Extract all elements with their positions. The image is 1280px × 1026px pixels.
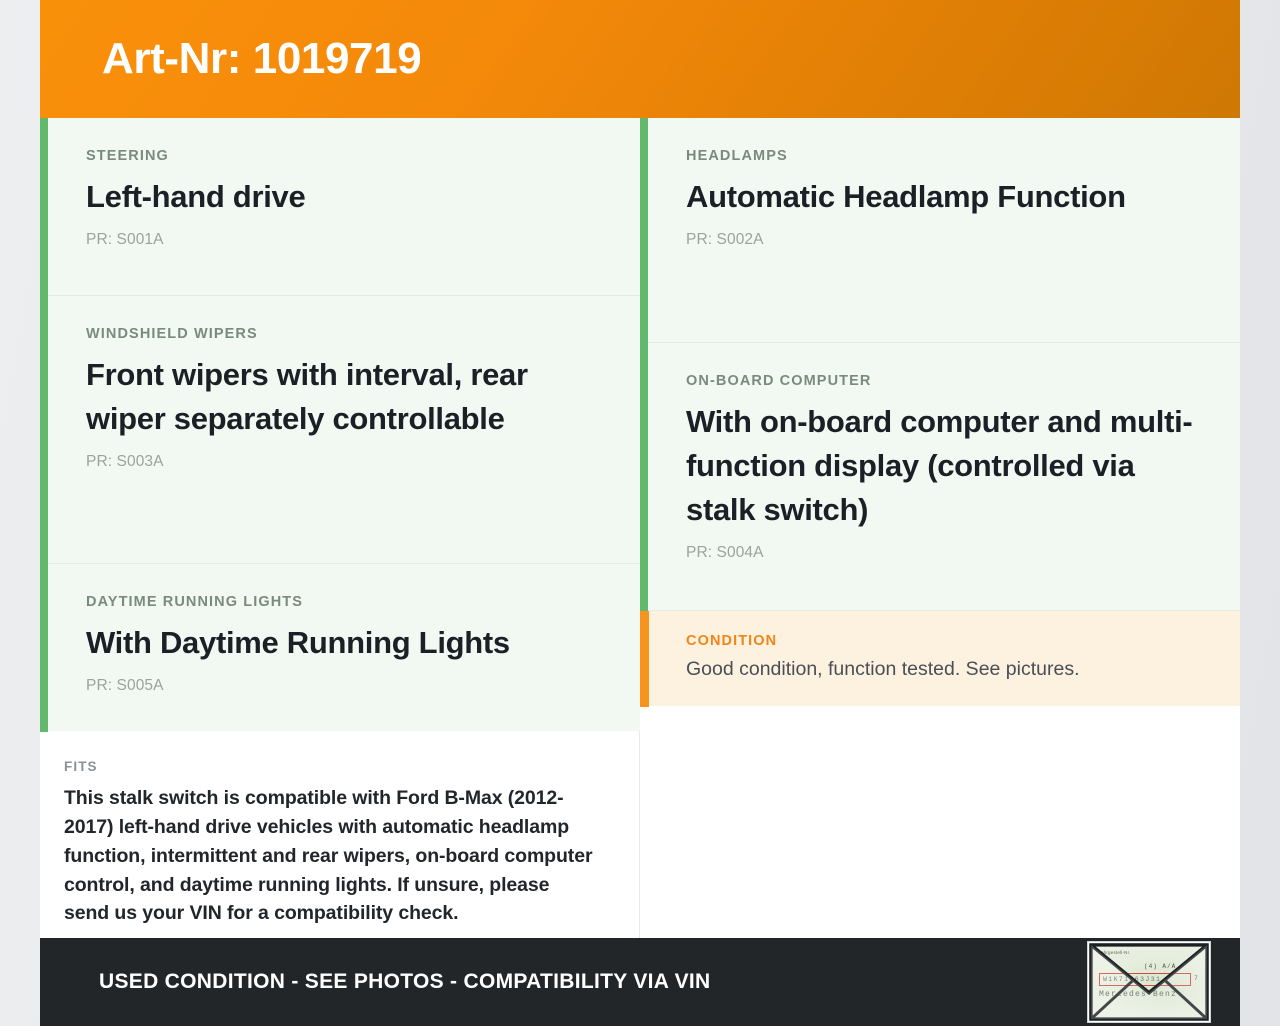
spec-title: Left-hand drive bbox=[86, 175, 596, 219]
header-banner: Art-Nr: 1019719 bbox=[40, 0, 1240, 118]
spec-card-daytime-running-lights: DAYTIME RUNNING LIGHTS With Daytime Runn… bbox=[40, 564, 640, 731]
spec-title: With Daytime Running Lights bbox=[86, 621, 596, 665]
fits-description: This stalk switch is compatible with For… bbox=[64, 784, 595, 928]
spec-label: ON-BOARD COMPUTER bbox=[686, 373, 1196, 389]
fits-section: FITS This stalk switch is compatible wit… bbox=[40, 731, 640, 968]
spec-grid: STEERING Left-hand drive PR: S001A WINDS… bbox=[40, 118, 1240, 731]
spec-column-left: STEERING Left-hand drive PR: S001A WINDS… bbox=[40, 118, 640, 731]
spec-pr-code: PR: S005A bbox=[86, 677, 596, 695]
footer-bar: USED CONDITION - SEE PHOTOS - COMPATIBIL… bbox=[40, 938, 1240, 1026]
spec-pr-code: PR: S003A bbox=[86, 453, 596, 471]
condition-label: CONDITION bbox=[686, 633, 1196, 649]
spec-label: HEADLAMPS bbox=[686, 148, 1196, 164]
condition-card: CONDITION Good condition, function teste… bbox=[640, 611, 1240, 706]
condition-text: Good condition, function tested. See pic… bbox=[686, 656, 1196, 682]
spec-title: With on-board computer and multi-functio… bbox=[686, 400, 1196, 532]
spec-pr-code: PR: S001A bbox=[86, 231, 596, 249]
spec-column-right: HEADLAMPS Automatic Headlamp Function PR… bbox=[640, 118, 1240, 706]
spec-pr-code: PR: S004A bbox=[686, 544, 1196, 562]
spec-label: WINDSHIELD WIPERS bbox=[86, 326, 596, 342]
spec-pr-code: PR: S002A bbox=[686, 231, 1196, 249]
listing-sheet: Art-Nr: 1019719 STEERING Left-hand drive… bbox=[40, 0, 1240, 1026]
spec-label: DAYTIME RUNNING LIGHTS bbox=[86, 594, 596, 610]
spec-title: Automatic Headlamp Function bbox=[686, 175, 1196, 219]
spec-card-on-board-computer: ON-BOARD COMPUTER With on-board computer… bbox=[640, 343, 1240, 611]
spec-title: Front wipers with interval, rear wiper s… bbox=[86, 353, 596, 441]
spec-card-steering: STEERING Left-hand drive PR: S001A bbox=[40, 118, 640, 296]
spec-card-headlamps: HEADLAMPS Automatic Headlamp Function PR… bbox=[640, 118, 1240, 343]
spec-label: STEERING bbox=[86, 148, 596, 164]
fits-label: FITS bbox=[64, 759, 595, 774]
envelope-icon bbox=[1088, 942, 1210, 1022]
article-number-title: Art-Nr: 1019719 bbox=[102, 37, 421, 81]
broken-image-thumbnail[interactable]: Fahrgestell-Nr. (4) A/A W1K71463J31 7 Me… bbox=[1087, 941, 1211, 1023]
spec-card-windshield-wipers: WINDSHIELD WIPERS Front wipers with inte… bbox=[40, 296, 640, 564]
footer-text: USED CONDITION - SEE PHOTOS - COMPATIBIL… bbox=[99, 970, 711, 994]
